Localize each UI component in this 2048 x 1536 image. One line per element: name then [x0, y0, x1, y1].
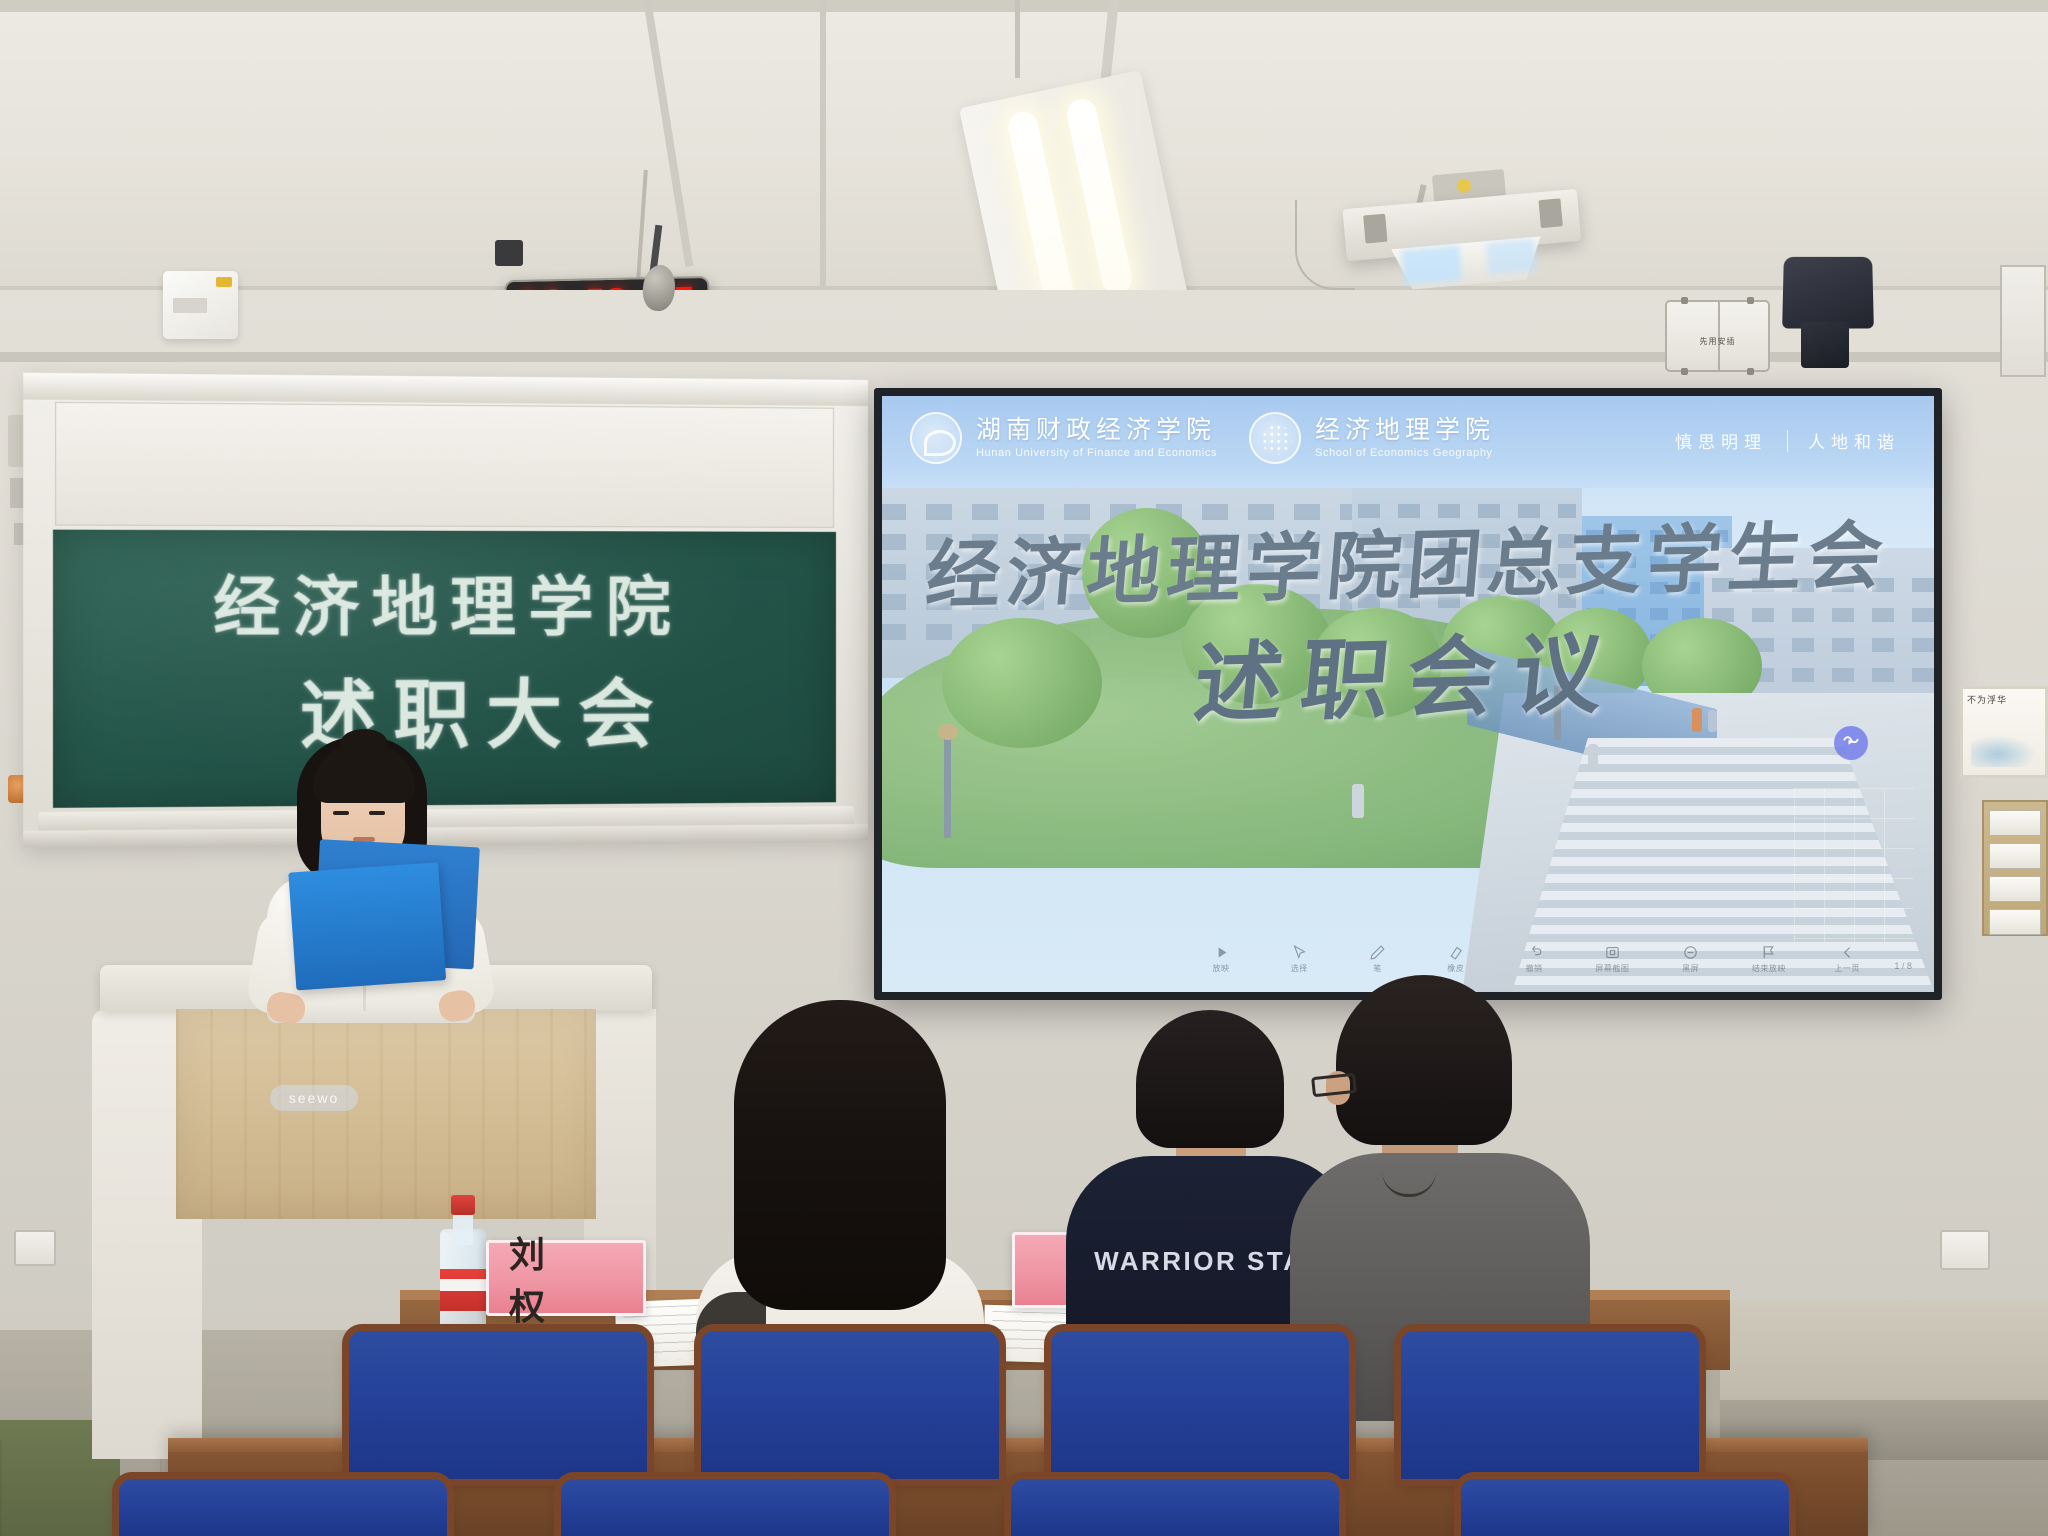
electrical-box-label: 先用安插	[1667, 336, 1768, 347]
slide-header-logos: 湖南财政经济学院 Hunan University of Finance and…	[910, 412, 1495, 464]
chair-frame	[1004, 1472, 1346, 1536]
chair[interactable]	[118, 1478, 448, 1536]
classroom-scene: 16:52:07 2025年05月28日 星期3 先用安插 经济地理学院 述职	[0, 0, 2048, 1536]
slide-grid-overlay	[1794, 788, 1914, 942]
toolbar-end-show-button[interactable]: 结束放映	[1738, 944, 1800, 974]
bottle-neck	[453, 1213, 473, 1245]
bottle-cap	[451, 1195, 475, 1215]
presenter-eye	[333, 811, 349, 815]
school-name-cn: 经济地理学院	[1315, 417, 1495, 443]
light-hanger	[1015, 0, 1020, 78]
light-switch[interactable]	[1989, 876, 2041, 902]
toolbar-screenshot-button[interactable]: 屏幕截图	[1581, 944, 1643, 974]
audience-hair	[1136, 1010, 1284, 1148]
speaker-bracket	[1801, 322, 1849, 368]
university-names: 湖南财政经济学院 Hunan University of Finance and…	[976, 417, 1217, 458]
toolbar-label: 笔	[1373, 963, 1382, 974]
audience-hair	[734, 1000, 946, 1310]
wall-panel-right	[2000, 265, 2046, 377]
toolbar-cursor-button[interactable]: 选择	[1268, 944, 1330, 974]
blue-folder	[288, 854, 486, 992]
chair-frame	[1044, 1324, 1356, 1486]
lectern-brand-label: seewo	[270, 1085, 358, 1111]
toolbar-eraser-button[interactable]: 橡皮	[1425, 944, 1487, 974]
chair-frame	[694, 1324, 1006, 1486]
chair[interactable]	[700, 1330, 1000, 1480]
audience-hair	[1336, 975, 1512, 1145]
toolbar-prev-page-button[interactable]: 上一页	[1816, 944, 1878, 974]
toolbar-label: 上一页	[1834, 963, 1860, 974]
ceiling-beam-diagonal	[640, 0, 693, 267]
wall-poster: 不为浮华	[1960, 686, 2048, 778]
presenter-hair-bun	[341, 729, 387, 755]
box-latch	[1747, 297, 1754, 304]
toolbar-undo-button[interactable]: 撤销	[1503, 944, 1565, 974]
university-name-cn: 湖南财政经济学院	[976, 417, 1217, 443]
water-bottle	[440, 1195, 486, 1337]
folder-front-cover	[288, 862, 446, 990]
toolbar-blackscreen-button[interactable]: 黑屏	[1660, 944, 1722, 974]
box-latch	[1681, 368, 1688, 375]
motto-left: 慎思明理	[1675, 428, 1767, 453]
wifi-label	[173, 298, 207, 313]
slide-motto: 慎思明理 人地和谐	[1675, 428, 1900, 453]
ceiling-beam	[0, 0, 2048, 12]
wifi-indicator-icon	[216, 277, 232, 287]
chair[interactable]	[348, 1330, 648, 1480]
school-name-en: School of Economics Geography	[1315, 447, 1495, 459]
slide-header: 湖南财政经济学院 Hunan University of Finance and…	[882, 396, 1934, 488]
school-names: 经济地理学院 School of Economics Geography	[1315, 417, 1495, 458]
screenshot-icon	[1604, 944, 1621, 961]
poster-artwork	[1971, 735, 2037, 767]
light-switch-panel[interactable]	[1982, 800, 2048, 936]
projector-lens-glow	[1486, 239, 1537, 275]
pedestrian	[1352, 784, 1364, 818]
chair[interactable]	[1460, 1478, 1790, 1536]
toolbar-label: 橡皮	[1447, 963, 1464, 974]
eraser-icon	[1447, 944, 1464, 961]
projection-screen[interactable]: 湖南财政经济学院 Hunan University of Finance and…	[882, 396, 1934, 992]
box-latch	[1681, 297, 1688, 304]
projector-vent	[1363, 214, 1387, 244]
wps-play-badge-icon[interactable]	[1834, 726, 1868, 760]
toolbar-label: 结束放映	[1752, 963, 1786, 974]
chair[interactable]	[1010, 1478, 1340, 1536]
projector-lens-glow	[1401, 245, 1462, 285]
projection-screen-frame: 湖南财政经济学院 Hunan University of Finance and…	[874, 388, 1942, 1000]
wall-sensor	[495, 240, 523, 266]
placard-name-text: 刘 权	[489, 1226, 643, 1330]
undo-icon	[1526, 944, 1543, 961]
chair[interactable]	[1400, 1330, 1700, 1480]
toolbar-label: 放映	[1213, 963, 1230, 974]
blackboard-sliding-panel[interactable]	[55, 402, 834, 528]
chair[interactable]	[560, 1478, 890, 1536]
light-switch[interactable]	[1989, 810, 2041, 836]
university-name-en: Hunan University of Finance and Economic…	[976, 447, 1217, 459]
electrical-box: 先用安插	[1665, 300, 1770, 372]
chair[interactable]	[1050, 1330, 1350, 1480]
chair-frame	[1394, 1324, 1706, 1486]
pedestrian	[1588, 744, 1598, 772]
university-logo-icon	[910, 412, 962, 464]
chevron-left-icon	[1839, 944, 1856, 961]
bottle-label-band	[440, 1279, 486, 1291]
school-logo-icon	[1249, 412, 1301, 464]
chair-frame	[342, 1324, 654, 1486]
slide-title-line2: 述职会议	[882, 595, 1934, 748]
slide-page-indicator: 1 / 8	[1894, 961, 1912, 971]
motto-divider	[1787, 430, 1788, 452]
power-socket-right[interactable]	[1940, 1230, 1990, 1270]
poster-text: 不为浮华	[1967, 695, 2043, 709]
toolbar-label: 黑屏	[1682, 963, 1699, 974]
light-switch[interactable]	[1989, 909, 2041, 935]
blackboard-text-line1: 经济地理学院	[53, 554, 836, 649]
toolbar-pen-button[interactable]: 笔	[1347, 944, 1409, 974]
box-latch	[1747, 368, 1754, 375]
toolbar-label: 选择	[1291, 963, 1308, 974]
flag-icon	[1760, 944, 1777, 961]
cursor-icon	[1291, 944, 1308, 961]
projector-vent	[1538, 198, 1562, 228]
chair-frame	[112, 1472, 454, 1536]
chair-frame	[1454, 1472, 1796, 1536]
minus-circle-icon	[1682, 944, 1699, 961]
power-socket-left[interactable]	[14, 1230, 56, 1266]
wall-speaker	[1783, 256, 1873, 366]
name-placard: 刘 权	[486, 1240, 646, 1316]
street-lamp	[944, 738, 951, 838]
speaker-head	[1782, 257, 1874, 329]
motto-right: 人地和谐	[1808, 428, 1900, 453]
ceiling-seam	[820, 0, 826, 300]
toolbar-play-button[interactable]: 放映	[1190, 944, 1252, 974]
toolbar-label: 撤销	[1526, 963, 1543, 974]
presenter-eye	[369, 811, 385, 815]
lectern-front-panel	[176, 1009, 596, 1219]
toolbar-label: 屏幕截图	[1595, 963, 1629, 974]
wifi-access-point	[163, 271, 238, 339]
pen-icon	[1369, 944, 1386, 961]
chair-frame	[554, 1472, 896, 1536]
light-switch[interactable]	[1989, 843, 2041, 869]
play-icon	[1213, 944, 1230, 961]
